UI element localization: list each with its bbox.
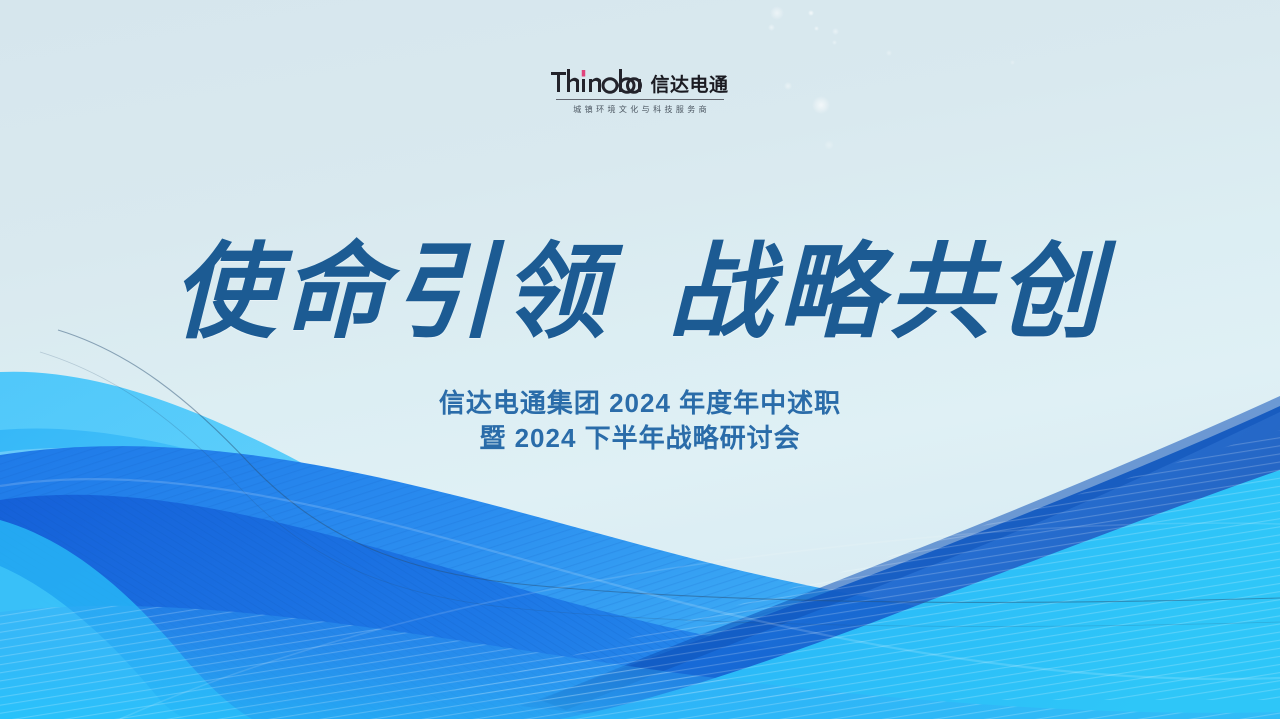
subtitle-block: 信达电通集团 2024 年度年中述职 暨 2024 下半年战略研讨会 — [0, 386, 1280, 456]
logo-row: 信达电通 — [551, 70, 728, 96]
headline-part-2: 战略共创 — [668, 230, 1108, 353]
logo-tagline: 城镇环境文化与科技服务商 — [570, 104, 710, 115]
thinda-wordmark — [551, 69, 643, 96]
logo-divider — [556, 99, 724, 100]
logo-company-cn: 信达电通 — [650, 76, 728, 95]
company-logo: 信达电通 城镇环境文化与科技服务商 — [0, 70, 1280, 115]
subtitle-line-2: 暨 2024 下半年战略研讨会 — [0, 421, 1280, 456]
page-title: 使命引领战略共创 — [0, 236, 1280, 348]
title-slide: 信达电通 城镇环境文化与科技服务商 使命引领战略共创 信达电通集团 2024 年… — [0, 0, 1280, 719]
subtitle-line-1: 信达电通集团 2024 年度年中述职 — [0, 386, 1280, 421]
headline-part-1: 使命引领 — [172, 230, 612, 353]
logo-i-dot — [582, 70, 586, 77]
